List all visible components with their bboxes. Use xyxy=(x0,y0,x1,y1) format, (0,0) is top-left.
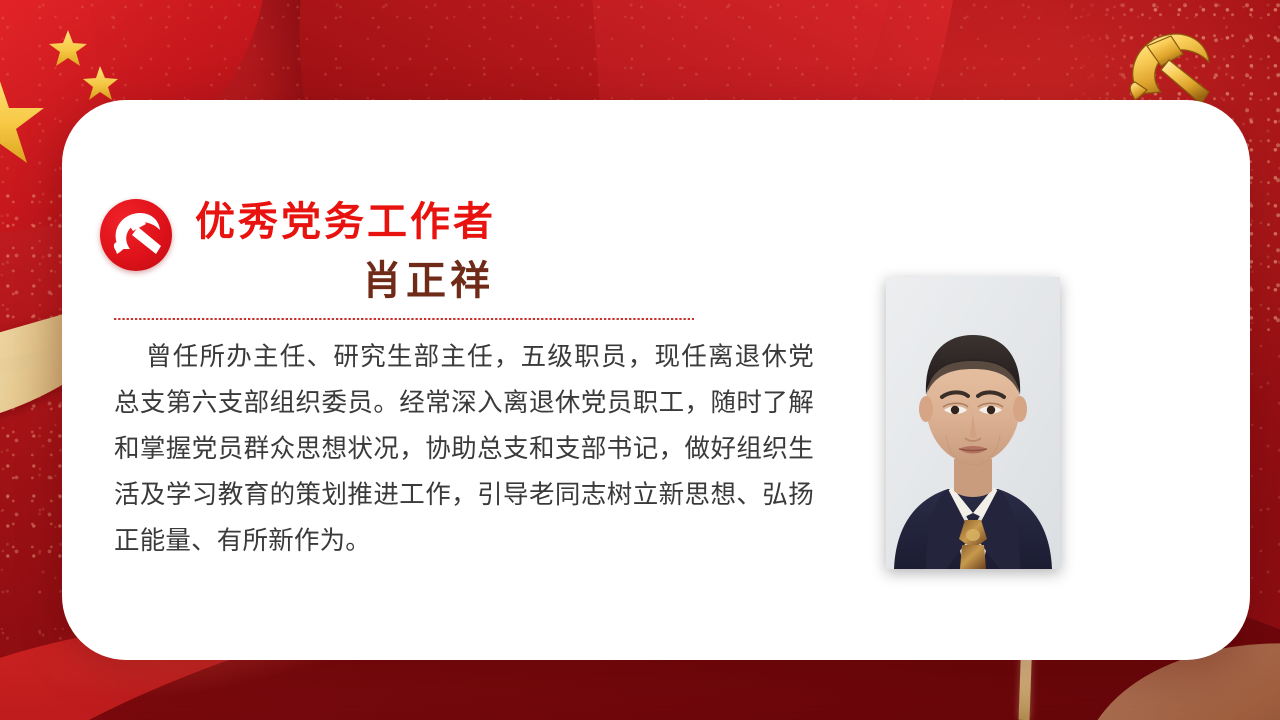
person-name: 肖正祥 xyxy=(362,261,494,301)
party-emblem-badge-icon xyxy=(100,199,172,271)
portrait-illustration xyxy=(886,277,1060,569)
content-card: 优秀党务工作者 肖正祥 曾任所办主任、研究生部主任，五级职员，现任离退休党总支第… xyxy=(62,100,1250,660)
page-title: 优秀党务工作者 xyxy=(195,202,496,242)
portrait-photo xyxy=(886,277,1060,569)
slide-root: 优秀党务工作者 肖正祥 曾任所办主任、研究生部主任，五级职员，现任离退休党总支第… xyxy=(0,0,1280,720)
biography-paragraph: 曾任所办主任、研究生部主任，五级职员，现任离退休党总支第六支部组织委员。经常深入… xyxy=(114,334,814,564)
dotted-divider xyxy=(114,318,694,320)
